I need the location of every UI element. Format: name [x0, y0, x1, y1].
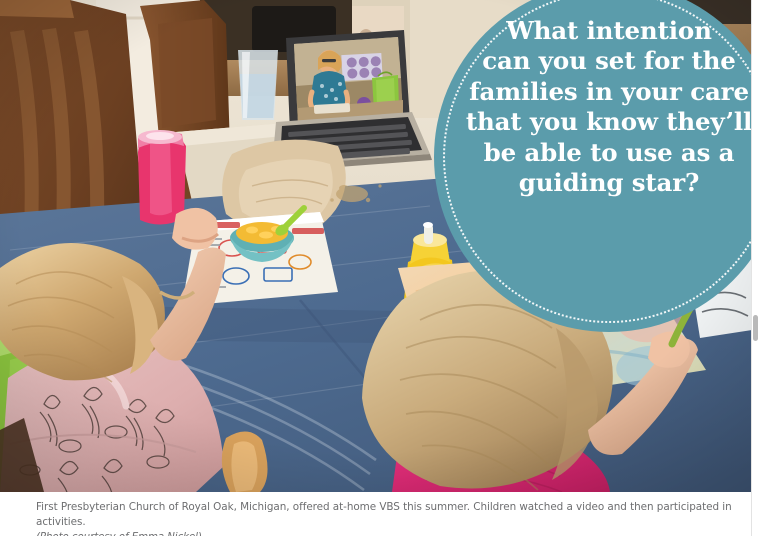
- pull-quote-text: What intention can you set for the famil…: [460, 16, 752, 198]
- vbs-photograph: What intention can you set for the famil…: [0, 0, 752, 492]
- vertical-scrollbar-thumb[interactable]: [753, 315, 758, 341]
- photo-caption-block: First Presbyterian Church of Royal Oak, …: [0, 492, 752, 536]
- vertical-scrollbar-track[interactable]: [752, 0, 759, 536]
- article-photo-page: What intention can you set for the famil…: [0, 0, 759, 536]
- photo-caption-text: First Presbyterian Church of Royal Oak, …: [36, 500, 752, 529]
- photo-credit-text: (Photo courtesy of Emma Nickel): [36, 531, 752, 536]
